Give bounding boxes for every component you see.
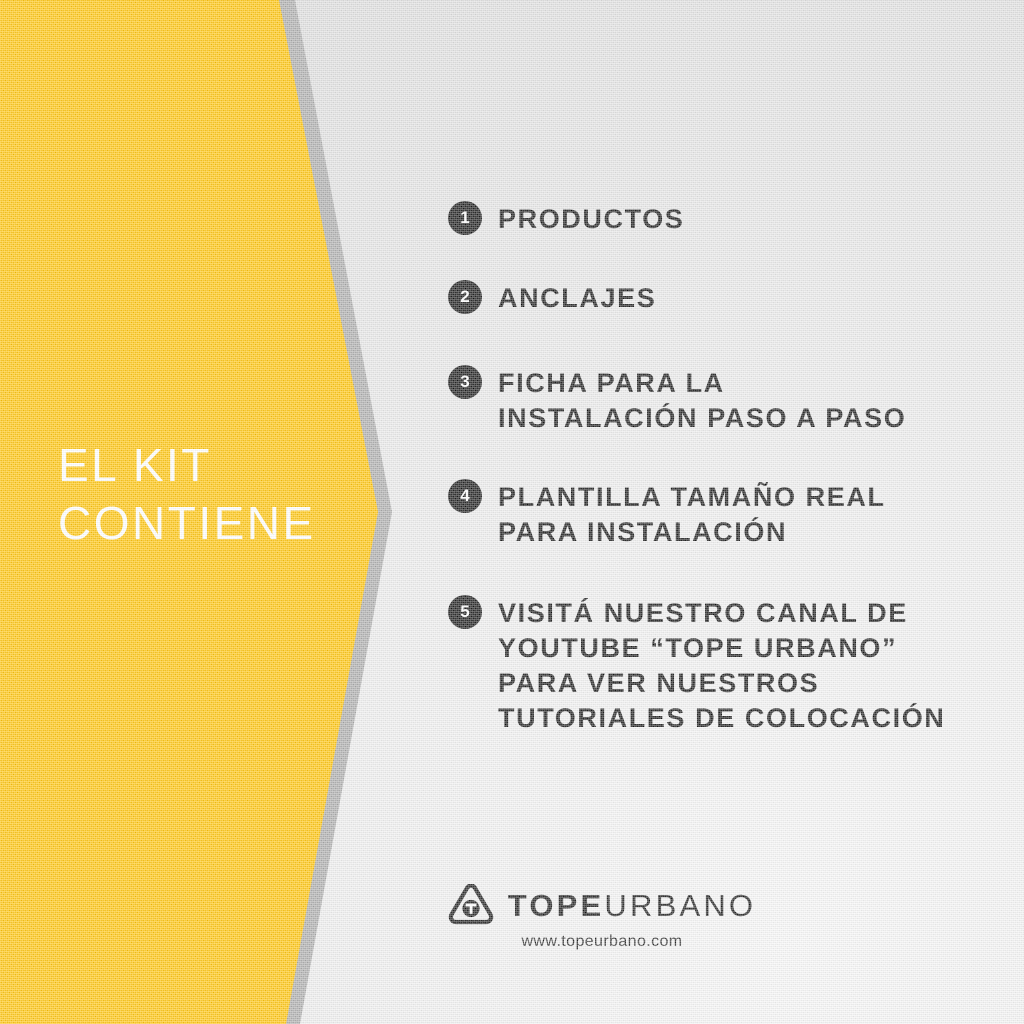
- tope-urbano-logo-icon: [448, 884, 494, 926]
- kit-contents-list: 1 PRODUCTOS 2 ANCLAJES 3 FICHA PARA LA I…: [448, 200, 988, 736]
- list-item-number-badge: 5: [448, 595, 482, 629]
- list-item-label: PLANTILLA TAMAÑO REAL PARA INSTALACIÓN: [498, 478, 886, 550]
- brand-lockup: TOPEURBANO: [448, 884, 756, 926]
- list-item-number-badge: 1: [448, 201, 482, 235]
- list-item-label: FICHA PARA LA INSTALACIÓN PASO A PASO: [498, 364, 906, 436]
- list-item: 2 ANCLAJES: [448, 279, 988, 316]
- list-item-number-badge: 2: [448, 280, 482, 314]
- list-item-number-badge: 3: [448, 365, 482, 399]
- brand-wordmark: TOPEURBANO: [508, 890, 756, 921]
- list-item-number-badge: 4: [448, 479, 482, 513]
- brand-footer: TOPEURBANO www.topeurbano.com: [0, 884, 1024, 951]
- list-item-label: PRODUCTOS: [498, 200, 684, 237]
- page-title: EL KIT CONTIENE: [58, 436, 358, 552]
- list-item-label: VISITÁ NUESTRO CANAL DE YOUTUBE “TOPE UR…: [498, 594, 945, 736]
- list-item: 3 FICHA PARA LA INSTALACIÓN PASO A PASO: [448, 364, 988, 436]
- list-item: 5 VISITÁ NUESTRO CANAL DE YOUTUBE “TOPE …: [448, 594, 988, 736]
- brand-name-bold: TOPE: [508, 888, 605, 923]
- list-item-label: ANCLAJES: [498, 279, 656, 316]
- poster-canvas: EL KIT CONTIENE 1 PRODUCTOS 2 ANCLAJES 3…: [0, 0, 1024, 1024]
- list-item: 1 PRODUCTOS: [448, 200, 988, 237]
- brand-website-url: www.topeurbano.com: [521, 933, 682, 951]
- brand-name-light: URBANO: [604, 888, 756, 923]
- list-item: 4 PLANTILLA TAMAÑO REAL PARA INSTALACIÓN: [448, 478, 988, 550]
